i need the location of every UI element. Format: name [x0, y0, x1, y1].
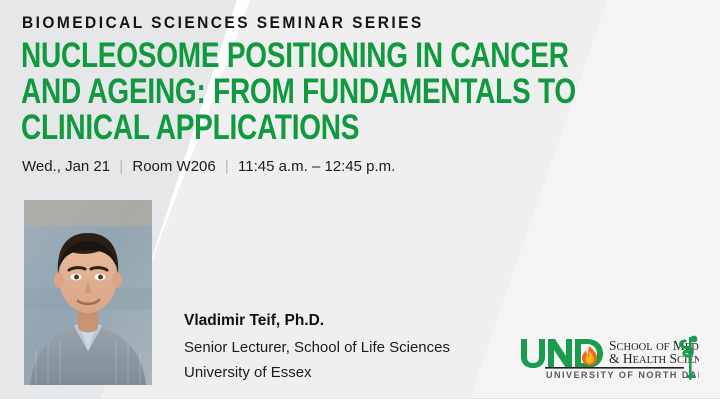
title-line-3: CLINICAL APPLICATIONS — [21, 110, 573, 145]
event-date: Wed., Jan 21 — [22, 158, 110, 175]
detail-separator-1: | — [114, 158, 128, 175]
event-details: Wed., Jan 21 | Room W206 | 11:45 a.m. – … — [22, 158, 395, 175]
flame-icon — [582, 346, 597, 366]
seminar-announcement-slide: BIOMEDICAL SCIENCES SEMINAR SERIES NUCLE… — [0, 0, 720, 405]
speaker-info: Vladimir Teif, Ph.D. Senior Lecturer, Sc… — [184, 312, 450, 389]
logo-divider — [545, 367, 684, 369]
speaker-name: Vladimir Teif, Ph.D. — [184, 312, 450, 330]
und-logo: SCHOOL OF MEDICINE & HEALTH SCIENCES UNI… — [519, 333, 699, 381]
speaker-portrait — [24, 200, 152, 385]
series-eyebrow: BIOMEDICAL SCIENCES SEMINAR SERIES — [22, 14, 424, 33]
page-title: NUCLEOSOME POSITIONING IN CANCER AND AGE… — [21, 38, 711, 146]
logo-line-3: UNIVERSITY OF NORTH DAKOTA — [546, 370, 699, 380]
event-room: Room W206 — [132, 158, 215, 175]
detail-separator-2: | — [220, 158, 234, 175]
bottom-divider — [0, 398, 720, 399]
title-line-1: NUCLEOSOME POSITIONING IN CANCER — [21, 38, 573, 73]
event-time: 11:45 a.m. – 12:45 p.m. — [238, 158, 395, 175]
logo-line-2: & HEALTH SCIENCES — [609, 351, 699, 366]
speaker-role: Senior Lecturer, School of Life Sciences — [184, 339, 450, 356]
speaker-institution: University of Essex — [184, 364, 450, 381]
title-line-2: AND AGEING: FROM FUNDAMENTALS TO — [21, 74, 573, 109]
